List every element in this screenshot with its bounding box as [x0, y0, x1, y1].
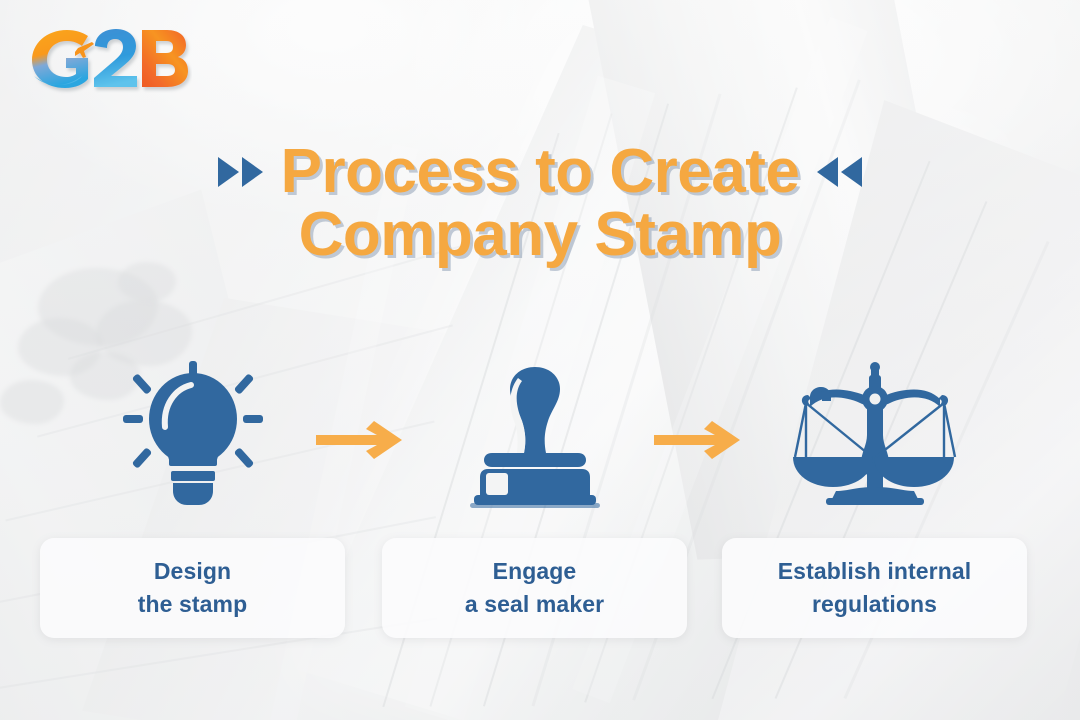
double-triangle-left-icon	[817, 157, 862, 187]
connector-arrow-2	[652, 418, 748, 462]
step-1-label-line2: the stamp	[138, 590, 248, 619]
page-title: Process to Create Company Stamp	[0, 140, 1080, 266]
logo-letter-b	[142, 30, 188, 87]
step-2-label-line1: Engage	[493, 557, 577, 586]
logo-letter-g	[32, 30, 88, 88]
title-text-line2: Company Stamp	[299, 203, 782, 266]
title-text-line1: Process to Create	[281, 140, 800, 203]
infographic-canvas: Process to Create Company Stamp	[0, 0, 1080, 720]
rubber-stamp-icon	[460, 361, 610, 511]
lightbulb-icon	[123, 361, 263, 511]
step-1-icon-container	[40, 356, 345, 516]
g2b-logo[interactable]	[22, 18, 192, 96]
balance-scales-icon	[790, 361, 960, 511]
step-card-design[interactable]: Design the stamp	[40, 538, 345, 638]
title-line-1: Process to Create	[0, 140, 1080, 203]
step-card-establish[interactable]: Establish internal regulations	[722, 538, 1027, 638]
step-card-engage[interactable]: Engage a seal maker	[382, 538, 687, 638]
step-2-label-line2: a seal maker	[465, 590, 604, 619]
airplane-icon	[75, 42, 94, 58]
step-3-label-line1: Establish internal	[778, 557, 972, 586]
step-1-label-line1: Design	[154, 557, 231, 586]
step-2-icon-container	[382, 356, 687, 516]
step-3-label-line2: regulations	[812, 590, 937, 619]
step-3-icon-container	[722, 356, 1027, 516]
arrow-right-icon	[314, 418, 410, 462]
double-triangle-right-icon	[218, 157, 263, 187]
connector-arrow-1	[314, 418, 410, 462]
logo-letter-2	[94, 29, 137, 87]
step-icon-row	[0, 356, 1080, 516]
arrow-right-icon	[652, 418, 748, 462]
g2b-logo-svg	[22, 18, 192, 96]
title-line-2: Company Stamp	[0, 203, 1080, 266]
